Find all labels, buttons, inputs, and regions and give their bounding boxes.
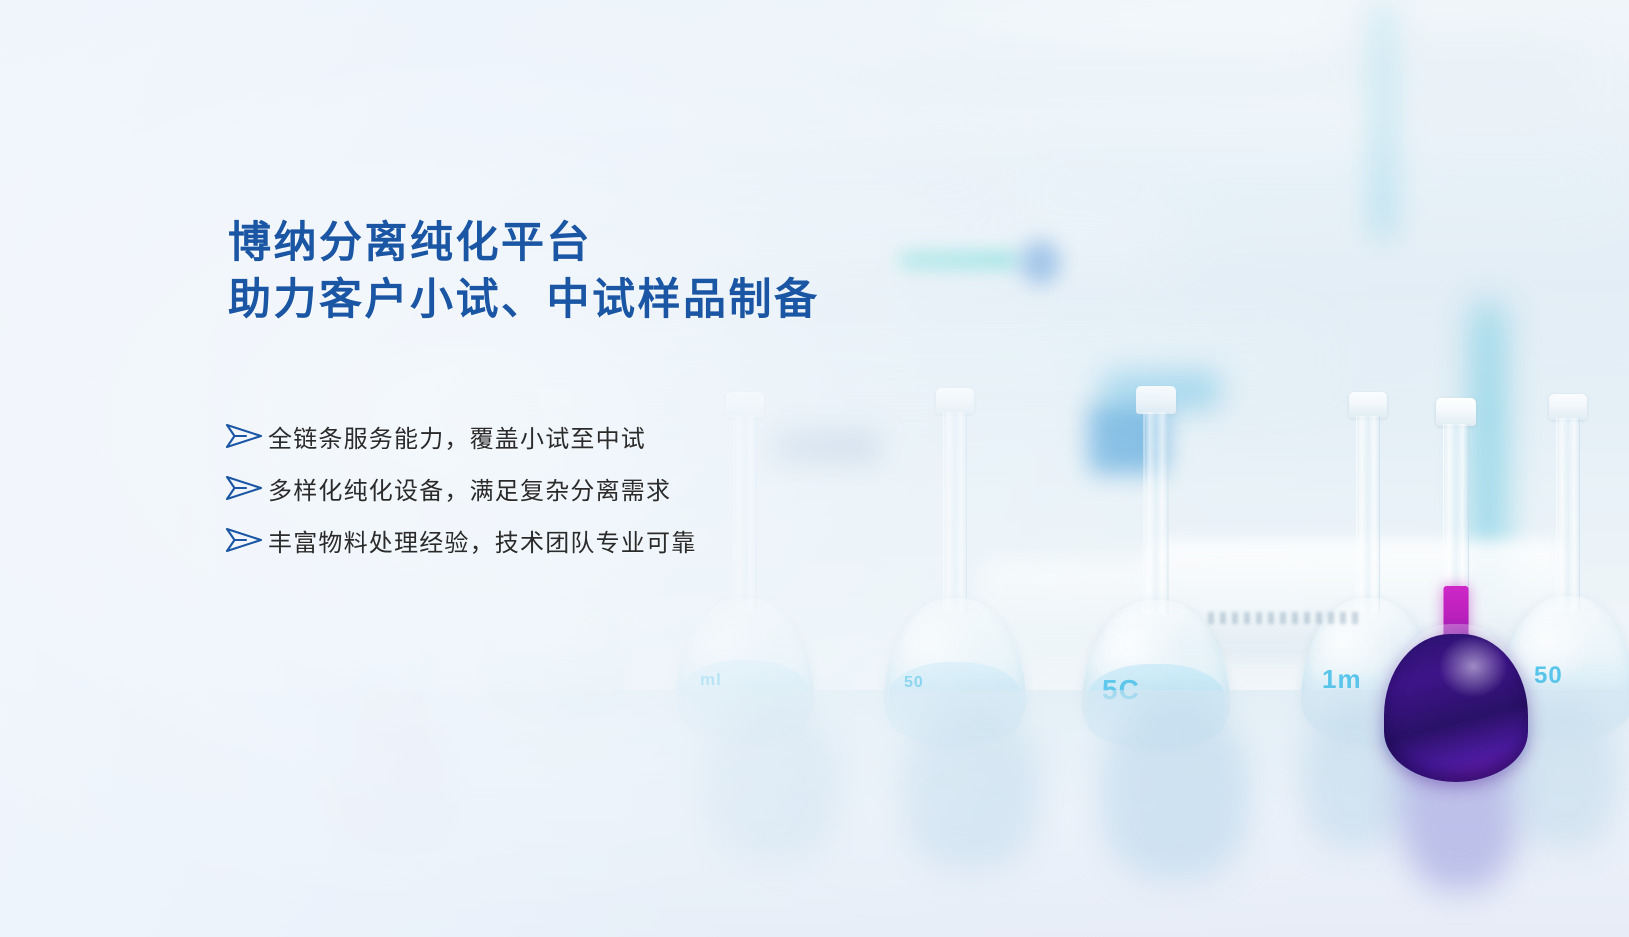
feature-item-1: 全链条服务能力，覆盖小试至中试	[224, 410, 696, 462]
send-arrow-icon	[224, 419, 268, 453]
feature-item-3-label: 丰富物料处理经验，技术团队专业可靠	[268, 523, 696, 558]
feature-list: 全链条服务能力，覆盖小试至中试 多样化纯化设备，满足复杂分离需求	[224, 410, 696, 566]
send-arrow-icon	[224, 471, 268, 505]
feature-item-2: 多样化纯化设备，满足复杂分离需求	[224, 462, 696, 514]
hero-banner: 50 ml 50	[0, 0, 1629, 937]
feature-item-3: 丰富物料处理经验，技术团队专业可靠	[224, 514, 696, 566]
feature-item-1-label: 全链条服务能力，覆盖小试至中试	[268, 419, 646, 454]
send-arrow-icon	[224, 523, 268, 557]
banner-content: 博纳分离纯化平台 助力客户小试、中试样品制备 全链条服务能力，覆盖小试至中试	[228, 0, 1228, 937]
flask-purple-foreground	[1376, 398, 1536, 770]
headline-line-2: 助力客户小试、中试样品制备	[228, 272, 820, 329]
feature-item-2-label: 多样化纯化设备，满足复杂分离需求	[268, 471, 671, 506]
headline-block: 博纳分离纯化平台 助力客户小试、中试样品制备	[228, 215, 820, 329]
headline-line-1: 博纳分离纯化平台	[228, 215, 820, 272]
